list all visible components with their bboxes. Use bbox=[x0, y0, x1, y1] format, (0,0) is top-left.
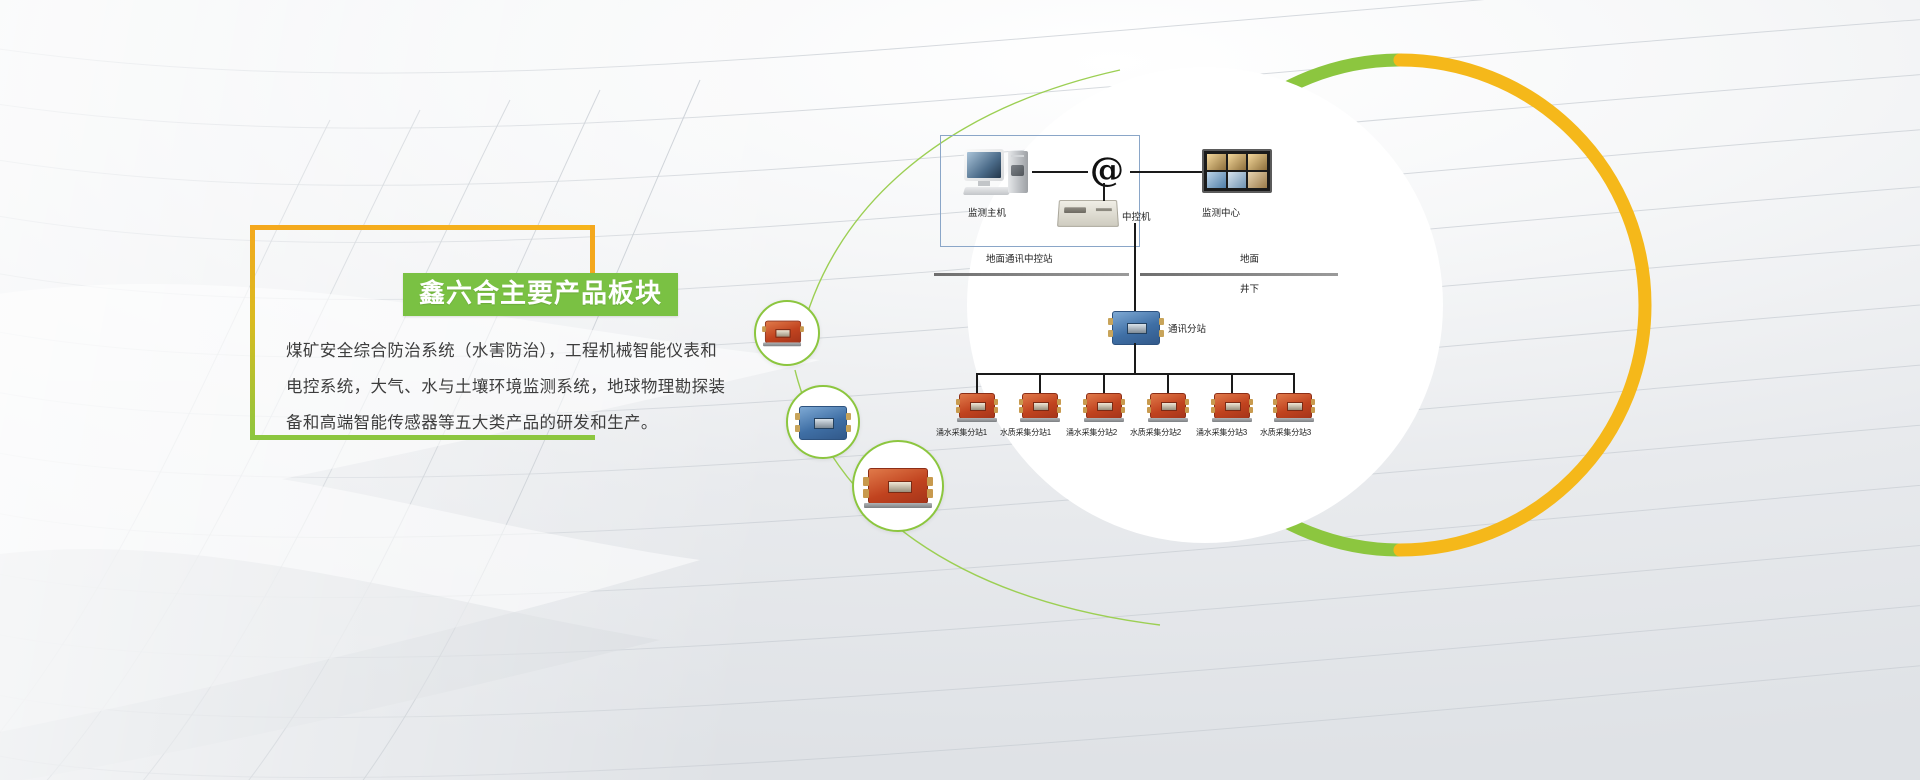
device-display bbox=[1225, 402, 1241, 411]
label-monitoring-host: 监测主机 bbox=[968, 205, 1006, 219]
device-lug bbox=[994, 407, 998, 413]
device-display bbox=[1287, 402, 1303, 411]
label-station-4: 水质采集分站2 bbox=[1130, 427, 1181, 438]
left-content-panel: 鑫六合主要产品板块 煤矿安全综合防治系统（水害防治），工程机械智能仪表和 电控系… bbox=[250, 225, 595, 440]
monitoring-center-icon bbox=[1202, 149, 1272, 193]
device-lug bbox=[795, 413, 800, 420]
device-lug bbox=[846, 425, 851, 432]
device-foot bbox=[1274, 418, 1314, 422]
device-lug bbox=[1121, 399, 1125, 405]
device-lug bbox=[1311, 399, 1315, 405]
collection-station-icon-1 bbox=[959, 393, 995, 419]
device-lug bbox=[1211, 407, 1215, 413]
device-foot bbox=[1212, 418, 1252, 422]
device-lug bbox=[1147, 407, 1151, 413]
device-lug bbox=[1057, 407, 1061, 413]
drop-line-3 bbox=[1103, 373, 1105, 395]
product-bubble-red-small[interactable] bbox=[754, 300, 820, 366]
product-bubble-red-large[interactable] bbox=[852, 440, 944, 532]
device-display bbox=[970, 402, 986, 411]
network-topology-diagram: 监测主机 @ 监测中心 中控机 地面通讯中控站 地面 井下 bbox=[940, 135, 1370, 455]
device-lug bbox=[1019, 399, 1023, 405]
label-station-3: 涌水采集分站2 bbox=[1066, 427, 1117, 438]
label-station-5: 涌水采集分站3 bbox=[1196, 427, 1247, 438]
product-bubble-blue[interactable] bbox=[786, 385, 860, 459]
product-icon-blue bbox=[799, 406, 847, 440]
link-internet-to-center bbox=[1130, 171, 1202, 173]
device-foot bbox=[864, 503, 932, 508]
monitor-screen bbox=[964, 149, 1004, 181]
bracket-top-edge bbox=[250, 225, 595, 230]
device-lug bbox=[795, 425, 800, 432]
device-display bbox=[1161, 402, 1177, 411]
drop-line-1 bbox=[976, 373, 978, 395]
device-display bbox=[1097, 402, 1113, 411]
section-title-banner: 鑫六合主要产品板块 bbox=[403, 273, 678, 316]
label-station-2: 水质采集分站1 bbox=[1000, 427, 1051, 438]
drop-line-6 bbox=[1293, 373, 1295, 395]
communication-substation-icon bbox=[1112, 311, 1160, 345]
device-lug bbox=[1185, 407, 1189, 413]
device-foot bbox=[957, 418, 997, 422]
device-lug bbox=[1273, 407, 1277, 413]
bracket-left-edge bbox=[250, 225, 255, 440]
drop-line-2 bbox=[1039, 373, 1041, 395]
device-lug bbox=[1159, 318, 1164, 325]
internet-at-icon: @ bbox=[1090, 153, 1124, 187]
collection-station-icon-3 bbox=[1086, 393, 1122, 419]
description-line-1: 煤矿安全综合防治系统（水害防治），工程机械智能仪表和 bbox=[286, 333, 706, 369]
surface-line-right bbox=[1140, 273, 1338, 276]
device-lug bbox=[956, 407, 960, 413]
monitoring-host-icon bbox=[964, 149, 1030, 201]
device-lug bbox=[1159, 330, 1164, 337]
device-lug bbox=[1211, 399, 1215, 405]
keyboard bbox=[963, 187, 1011, 195]
drop-line-4 bbox=[1167, 373, 1169, 395]
device-lug bbox=[1249, 399, 1253, 405]
device-foot bbox=[1084, 418, 1124, 422]
product-icon-red-small bbox=[765, 321, 801, 344]
device-lug bbox=[1019, 407, 1023, 413]
device-lug bbox=[1185, 399, 1189, 405]
description-line-2: 电控系统，大气、水与土壤环境监测系统，地球物理勘探装 bbox=[286, 369, 706, 405]
drop-line-5 bbox=[1231, 373, 1233, 395]
link-internet-to-ccm bbox=[1103, 183, 1105, 201]
device-lug bbox=[1273, 399, 1277, 405]
label-surface: 地面 bbox=[1240, 251, 1259, 265]
device-lug bbox=[863, 477, 869, 486]
collection-bus-line bbox=[976, 373, 1294, 375]
device-lug bbox=[927, 477, 933, 486]
device-lug bbox=[762, 326, 766, 332]
device-lug bbox=[1121, 407, 1125, 413]
device-foot bbox=[763, 342, 801, 346]
device-lug bbox=[956, 399, 960, 405]
page-title: 鑫六合主要产品板块 bbox=[419, 278, 662, 308]
device-lug bbox=[1083, 399, 1087, 405]
description-line-3: 备和高端智能传感器等五大类产品的研发和生产。 bbox=[286, 405, 706, 441]
device-foot bbox=[1020, 418, 1060, 422]
label-ground-comm-control-station: 地面通讯中控站 bbox=[986, 251, 1053, 265]
label-station-1: 涌水采集分站1 bbox=[936, 427, 987, 438]
label-communication-substation: 通讯分站 bbox=[1168, 321, 1206, 335]
device-lug bbox=[863, 489, 869, 498]
trunk-line-vertical bbox=[1134, 223, 1136, 311]
device-lug bbox=[846, 413, 851, 420]
collection-station-icon-4 bbox=[1150, 393, 1186, 419]
device-display bbox=[1127, 323, 1147, 334]
label-underground: 井下 bbox=[1240, 281, 1259, 295]
device-display bbox=[814, 418, 834, 429]
system-diagram-graphic: 监测主机 @ 监测中心 中控机 地面通讯中控站 地面 井下 bbox=[740, 40, 1920, 740]
link-host-to-internet bbox=[1032, 171, 1088, 173]
monitor-stand bbox=[978, 181, 990, 186]
section-description: 煤矿安全综合防治系统（水害防治），工程机械智能仪表和 电控系统，大气、水与土壤环… bbox=[286, 333, 706, 441]
device-lug bbox=[927, 489, 933, 498]
product-icon-red-large bbox=[868, 468, 928, 504]
device-display bbox=[775, 329, 790, 338]
collection-station-icon-6 bbox=[1276, 393, 1312, 419]
device-lug bbox=[1083, 407, 1087, 413]
label-monitoring-center: 监测中心 bbox=[1202, 205, 1240, 219]
surface-line-left bbox=[934, 273, 1129, 276]
device-lug bbox=[1311, 407, 1315, 413]
device-foot bbox=[1148, 418, 1188, 422]
device-lug bbox=[994, 399, 998, 405]
label-central-control-machine: 中控机 bbox=[1122, 209, 1151, 223]
central-control-machine-icon bbox=[1057, 200, 1119, 227]
device-lug bbox=[1057, 399, 1061, 405]
collection-station-icon-2 bbox=[1022, 393, 1058, 419]
computer-tower bbox=[1008, 151, 1028, 193]
collection-station-icon-5 bbox=[1214, 393, 1250, 419]
device-display bbox=[1033, 402, 1049, 411]
device-display bbox=[888, 481, 912, 493]
label-station-6: 水质采集分站3 bbox=[1260, 427, 1311, 438]
device-lug bbox=[1108, 318, 1113, 325]
trunk-line-to-bus bbox=[1134, 343, 1136, 373]
device-lug bbox=[800, 326, 804, 332]
device-lug bbox=[1249, 407, 1253, 413]
device-lug bbox=[1147, 399, 1151, 405]
device-lug bbox=[1108, 330, 1113, 337]
